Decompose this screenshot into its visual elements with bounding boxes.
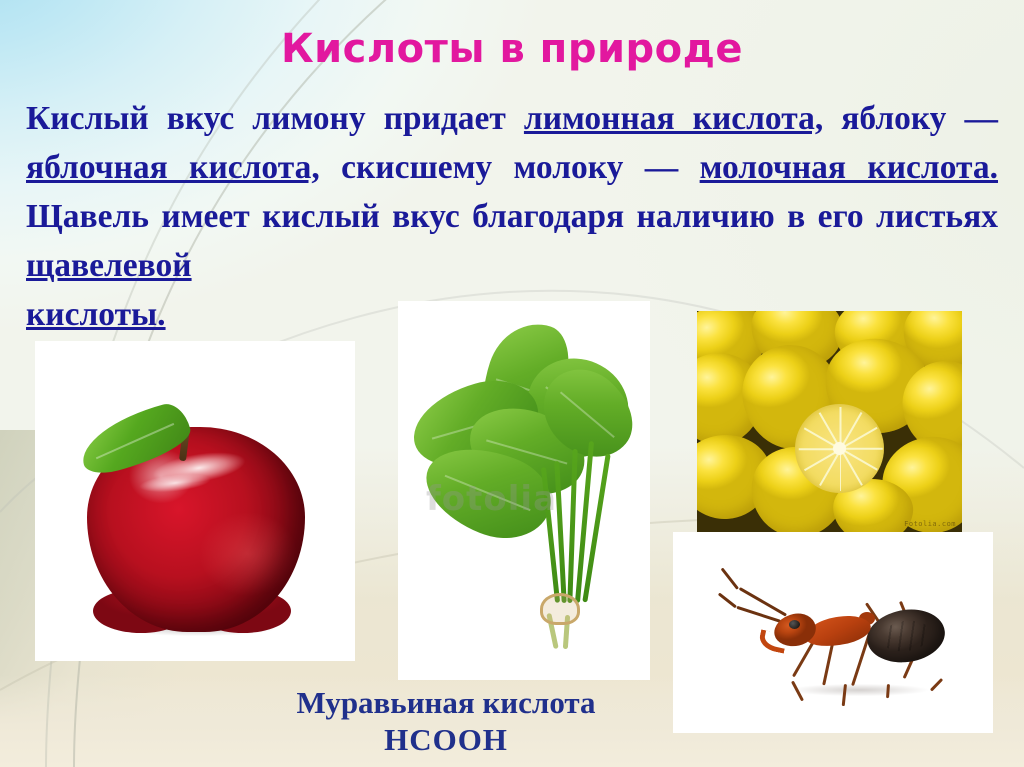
ant-antenna-right-tip — [721, 568, 739, 590]
body-segment-7: Щавель имеет кислый вкус благодаря налич… — [26, 198, 998, 235]
ant-antenna-left-tip — [718, 592, 737, 608]
image-lemons: Fotolia.com — [697, 311, 962, 532]
sorrel-watermark: fotolia — [426, 479, 557, 519]
term-malic-acid: яблочная кислота, — [26, 149, 320, 186]
body-segment-3: яблоку — — [823, 100, 998, 137]
lemon-cut-half — [795, 404, 884, 493]
sorrel-twine-tie — [540, 593, 580, 625]
term-oxalic-acid-part1: щавелевой — [26, 247, 192, 284]
image-ant — [673, 532, 993, 733]
lemon-core — [833, 442, 846, 455]
body-segment-5: скисшему молоку — — [320, 149, 700, 186]
term-lactic-acid: молочная кислота. — [700, 149, 998, 186]
ant-gaster — [864, 605, 948, 667]
body-segment-1: Кислый вкус лимону придает — [26, 100, 524, 137]
image-apple — [35, 341, 355, 661]
image-sorrel: fotolia — [398, 301, 650, 680]
term-oxalic-acid-part2: кислоты. — [26, 290, 998, 339]
lemons-watermark: Fotolia.com — [904, 520, 956, 528]
image-caption-formic-acid: Муравьиная кислота HCOOH — [186, 684, 706, 758]
presentation-slide: Кислоты в природе Кислый вкус лимону при… — [0, 0, 1024, 767]
caption-line-name: Муравьиная кислота — [186, 684, 706, 721]
term-citric-acid: лимонная кислота, — [524, 100, 823, 137]
caption-line-formula: HCOOH — [186, 721, 706, 758]
ant-eye — [789, 620, 800, 629]
slide-title: Кислоты в природе — [0, 26, 1024, 72]
slide-body-text: Кислый вкус лимону придает лимонная кисл… — [26, 94, 998, 339]
ant-antenna-right — [739, 587, 787, 616]
